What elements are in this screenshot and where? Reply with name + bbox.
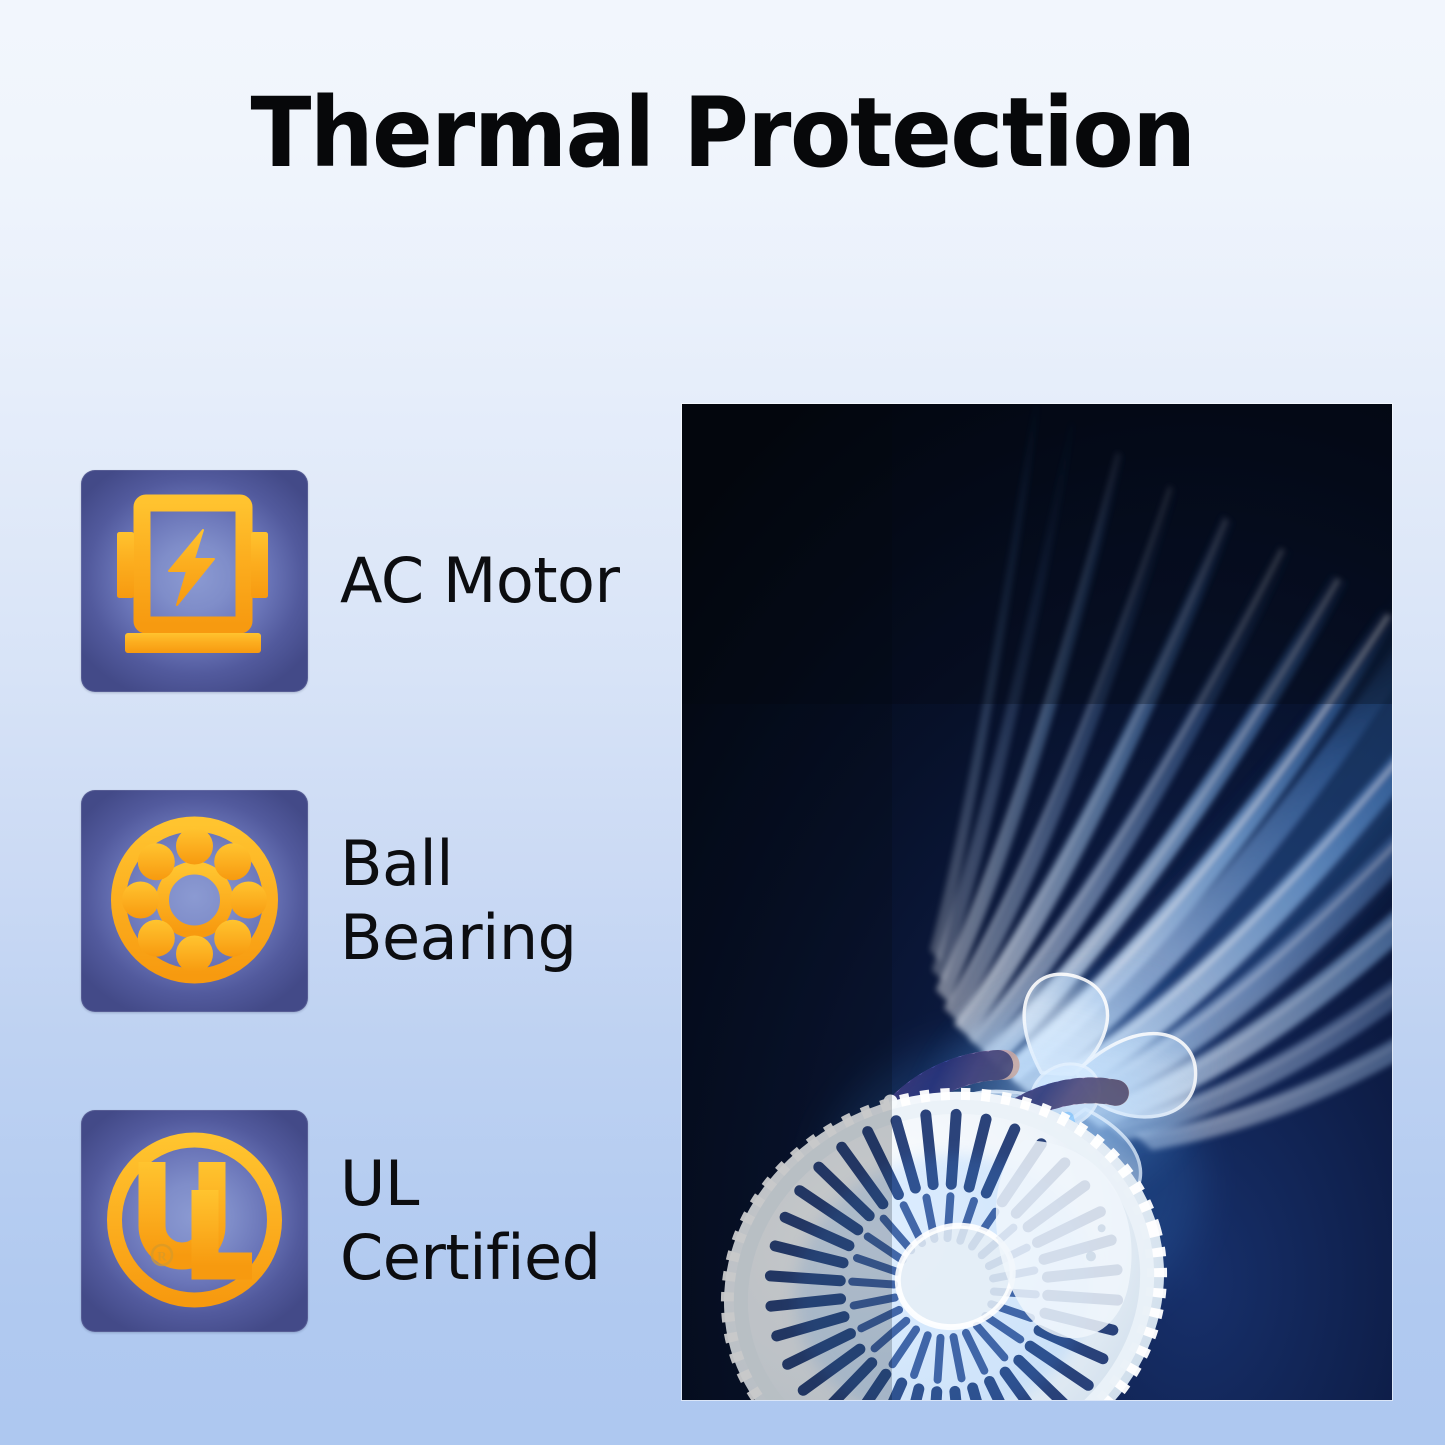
icon-tile-ball-bearing <box>81 790 308 1012</box>
feature-label-ac-motor: AC Motor <box>340 544 619 618</box>
feature-item-ac-motor: AC Motor <box>81 470 661 692</box>
ac-motor-icon <box>81 470 308 692</box>
ball-bearing-icon <box>81 790 308 1012</box>
motor-assembly-illustration <box>682 404 1392 1400</box>
svg-text:R: R <box>157 1249 167 1264</box>
page-title: Thermal Protection <box>51 85 1395 181</box>
ul-certified-icon: R <box>81 1110 308 1332</box>
feature-item-ball-bearing: Ball Bearing <box>81 790 661 1012</box>
feature-label-ul-certified: UL Certified <box>340 1147 601 1296</box>
feature-list: AC Motor <box>81 470 661 1332</box>
product-photo <box>682 404 1392 1400</box>
icon-tile-ul-certified: R <box>81 1110 308 1332</box>
infographic-page: Thermal Protection <box>0 0 1445 1445</box>
icon-tile-ac-motor <box>81 470 308 692</box>
feature-label-ball-bearing: Ball Bearing <box>340 827 577 976</box>
feature-item-ul-certified: R UL Certified <box>81 1110 661 1332</box>
